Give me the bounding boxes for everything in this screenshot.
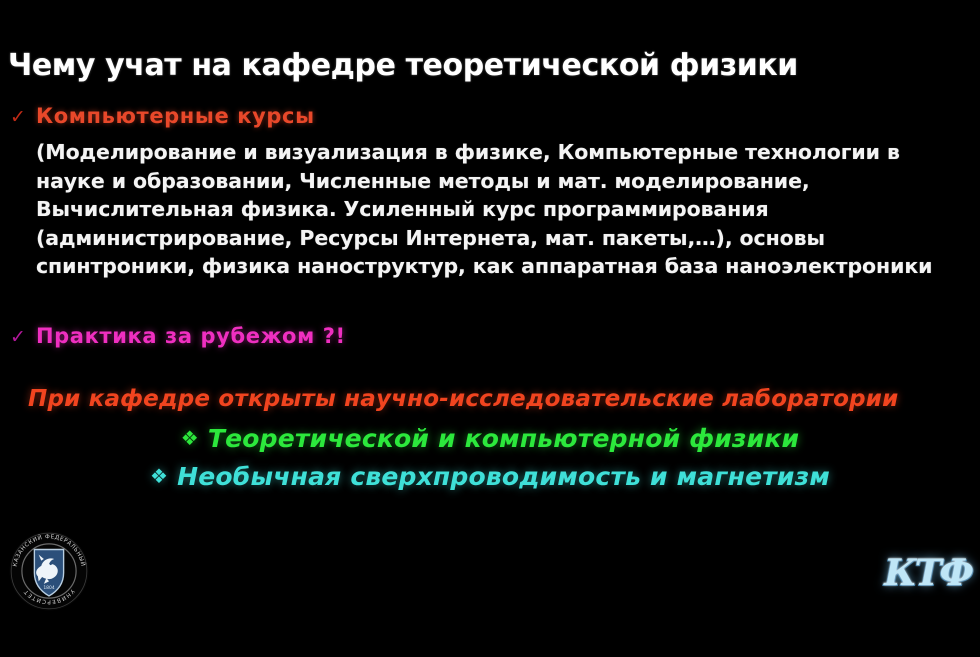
checkmark-icon: ✓ (10, 328, 36, 347)
laboratory-label: Теоретической и компьютерной физики (208, 424, 799, 453)
bullet-item-computer-courses: ✓ Компьютерные курсы (10, 104, 315, 128)
bullet-label-computer-courses: Компьютерные курсы (36, 104, 315, 128)
description-line: спинтроники, физика наноструктур, как ап… (36, 252, 980, 281)
bullet-label-internship-abroad: Практика за рубежом ?! (36, 324, 346, 348)
description-line: (Моделирование и визуализация в физике, … (36, 138, 980, 167)
slide-canvas: Чему учат на кафедре теоретической физик… (0, 0, 980, 657)
description-line: науке и образовании, Численные методы и … (36, 167, 980, 196)
svg-text:1804: 1804 (43, 585, 55, 591)
laboratory-label: Необычная сверхпроводимость и магнетизм (177, 462, 830, 491)
description-line: Вычислительная физика. Усиленный курс пр… (36, 195, 980, 224)
diamond-bullet-icon: ❖ (150, 464, 168, 488)
diamond-bullet-icon: ❖ (181, 426, 199, 450)
department-logo: КТФ (882, 542, 974, 604)
description-line: (администрирование, Ресурсы Интернета, м… (36, 224, 980, 253)
bullet-item-internship-abroad: ✓ Практика за рубежом ?! (10, 324, 346, 348)
checkmark-icon: ✓ (10, 108, 36, 127)
laboratory-item-superconductivity-magnetism: ❖Необычная сверхпроводимость и магнетизм (0, 462, 980, 491)
page-title: Чему учат на кафедре теоретической физик… (8, 48, 972, 83)
laboratory-item-theoretical-computational-physics: ❖Теоретической и компьютерной физики (0, 424, 980, 453)
department-logo-text: КТФ (882, 542, 974, 604)
courses-description: (Моделирование и визуализация в физике, … (36, 138, 980, 281)
laboratories-heading: При кафедре открыты научно-исследователь… (28, 386, 968, 412)
university-emblem-logo: КАЗАНСКИЙ ФЕДЕРАЛЬНЫЙ УНИВЕРСИТЕТ 1804 (6, 528, 92, 614)
